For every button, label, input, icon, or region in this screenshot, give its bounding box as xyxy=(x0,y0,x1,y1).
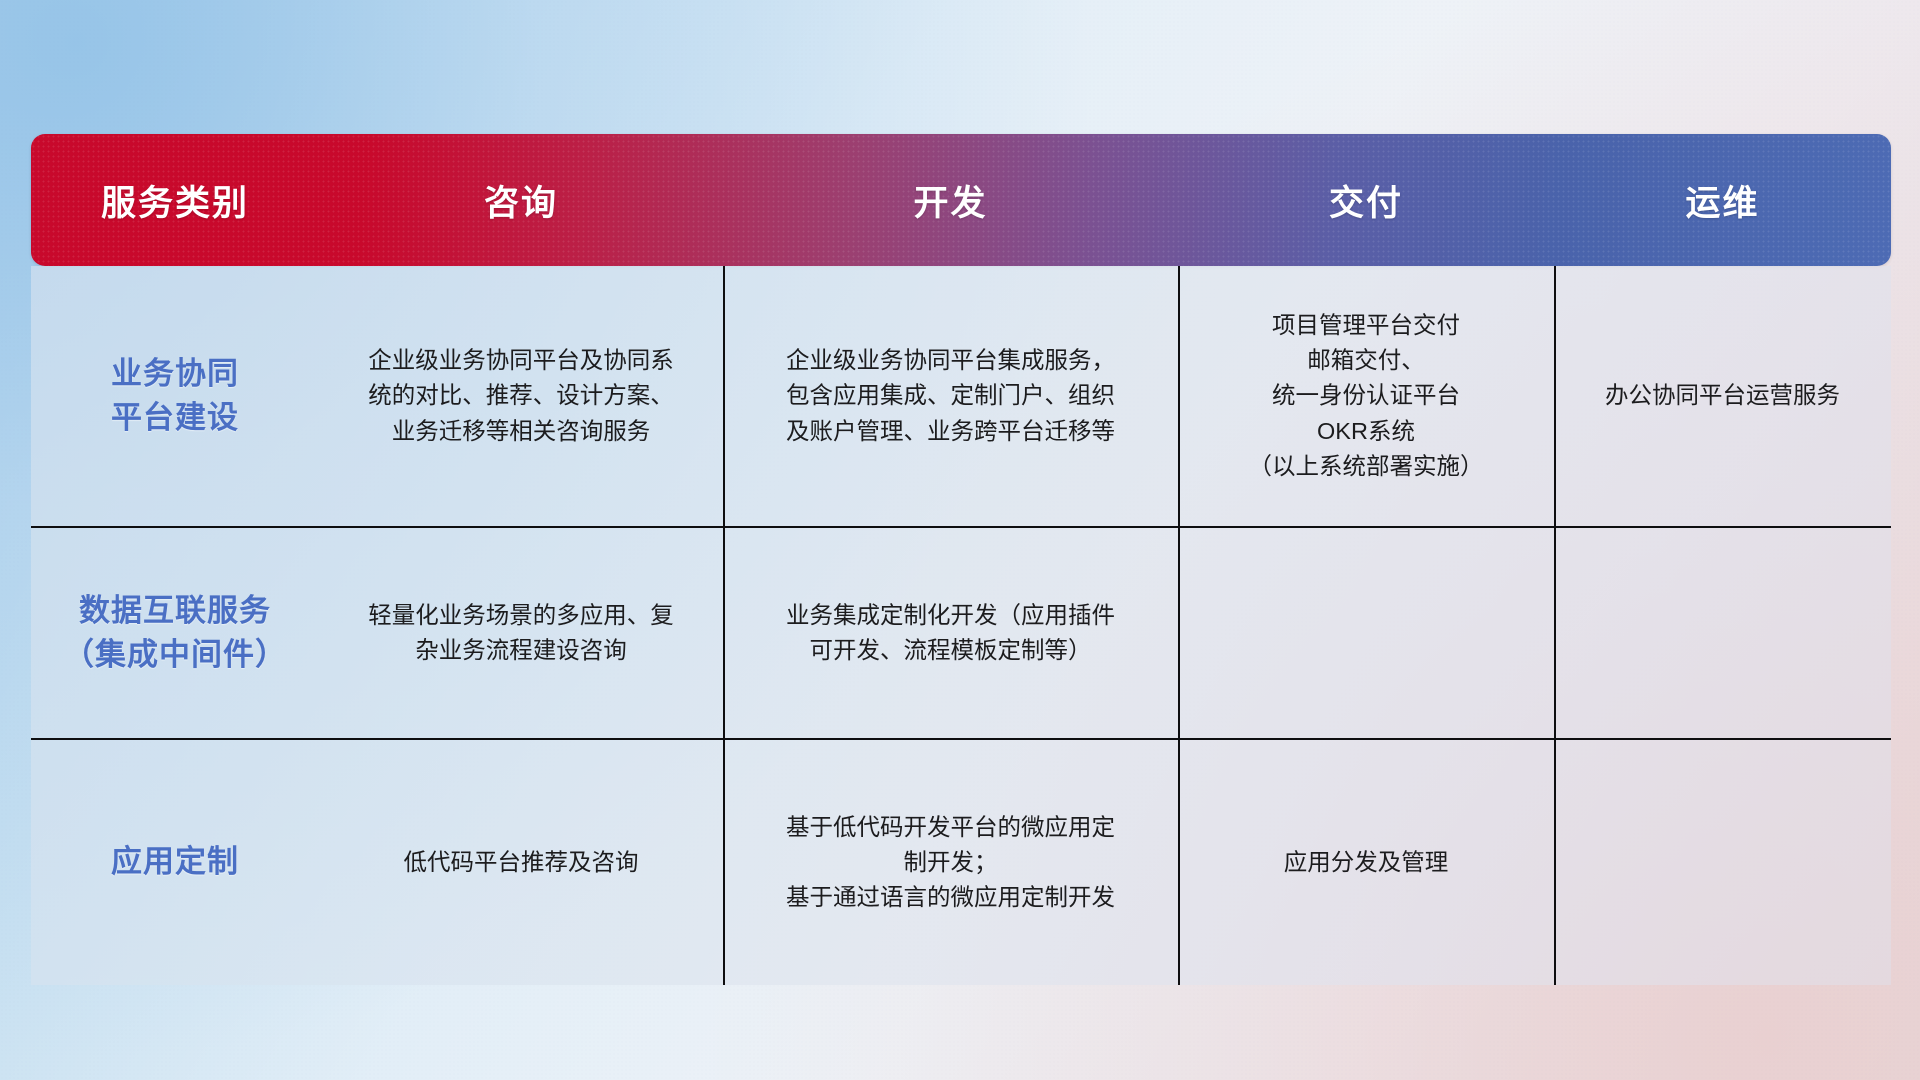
column-header-operations: 运维 xyxy=(1554,134,1891,266)
column-divider-development-delivery xyxy=(1178,266,1180,985)
cell-delivery xyxy=(1178,528,1554,738)
column-header-development: 开发 xyxy=(723,134,1178,266)
cell-development: 业务集成定制化开发（应用插件 可开发、流程模板定制等） xyxy=(723,528,1178,738)
cell-development: 企业级业务协同平台集成服务， 包含应用集成、定制门户、组织 及账户管理、业务跨平… xyxy=(723,266,1178,526)
table-header-row: 服务类别 咨询 开发 交付 运维 xyxy=(31,134,1891,266)
slide-canvas: 服务类别 咨询 开发 交付 运维 业务协同 平台建设 企业级业务协同平台及协同系… xyxy=(0,0,1920,1080)
cell-operations xyxy=(1554,740,1891,985)
service-matrix-table: 服务类别 咨询 开发 交付 运维 业务协同 平台建设 企业级业务协同平台及协同系… xyxy=(31,134,1891,957)
cell-consulting: 低代码平台推荐及咨询 xyxy=(319,740,723,985)
column-header-category: 服务类别 xyxy=(31,134,319,266)
cell-delivery: 应用分发及管理 xyxy=(1178,740,1554,985)
cell-operations: 办公协同平台运营服务 xyxy=(1554,266,1891,526)
column-header-delivery: 交付 xyxy=(1178,134,1554,266)
column-divider-delivery-operations xyxy=(1554,266,1556,985)
table-body: 业务协同 平台建设 企业级业务协同平台及协同系 统的对比、推荐、设计方案、 业务… xyxy=(31,266,1891,985)
cell-consulting: 企业级业务协同平台及协同系 统的对比、推荐、设计方案、 业务迁移等相关咨询服务 xyxy=(319,266,723,526)
table-row: 业务协同 平台建设 企业级业务协同平台及协同系 统的对比、推荐、设计方案、 业务… xyxy=(31,266,1891,526)
column-header-consulting: 咨询 xyxy=(319,134,723,266)
cell-operations xyxy=(1554,528,1891,738)
row-category-label: 数据互联服务 （集成中间件） xyxy=(31,528,319,738)
cell-development: 基于低代码开发平台的微应用定 制开发； 基于通过语言的微应用定制开发 xyxy=(723,740,1178,985)
table-row: 数据互联服务 （集成中间件） 轻量化业务场景的多应用、复 杂业务流程建设咨询 业… xyxy=(31,526,1891,738)
row-category-label: 业务协同 平台建设 xyxy=(31,266,319,526)
cell-consulting: 轻量化业务场景的多应用、复 杂业务流程建设咨询 xyxy=(319,528,723,738)
table-row: 应用定制 低代码平台推荐及咨询 基于低代码开发平台的微应用定 制开发； 基于通过… xyxy=(31,738,1891,985)
table: 服务类别 咨询 开发 交付 运维 业务协同 平台建设 企业级业务协同平台及协同系… xyxy=(31,134,1891,957)
cell-delivery: 项目管理平台交付 邮箱交付、 统一身份认证平台 OKR系统 （以上系统部署实施） xyxy=(1178,266,1554,526)
column-divider-consulting-development xyxy=(723,266,725,985)
row-category-label: 应用定制 xyxy=(31,740,319,985)
